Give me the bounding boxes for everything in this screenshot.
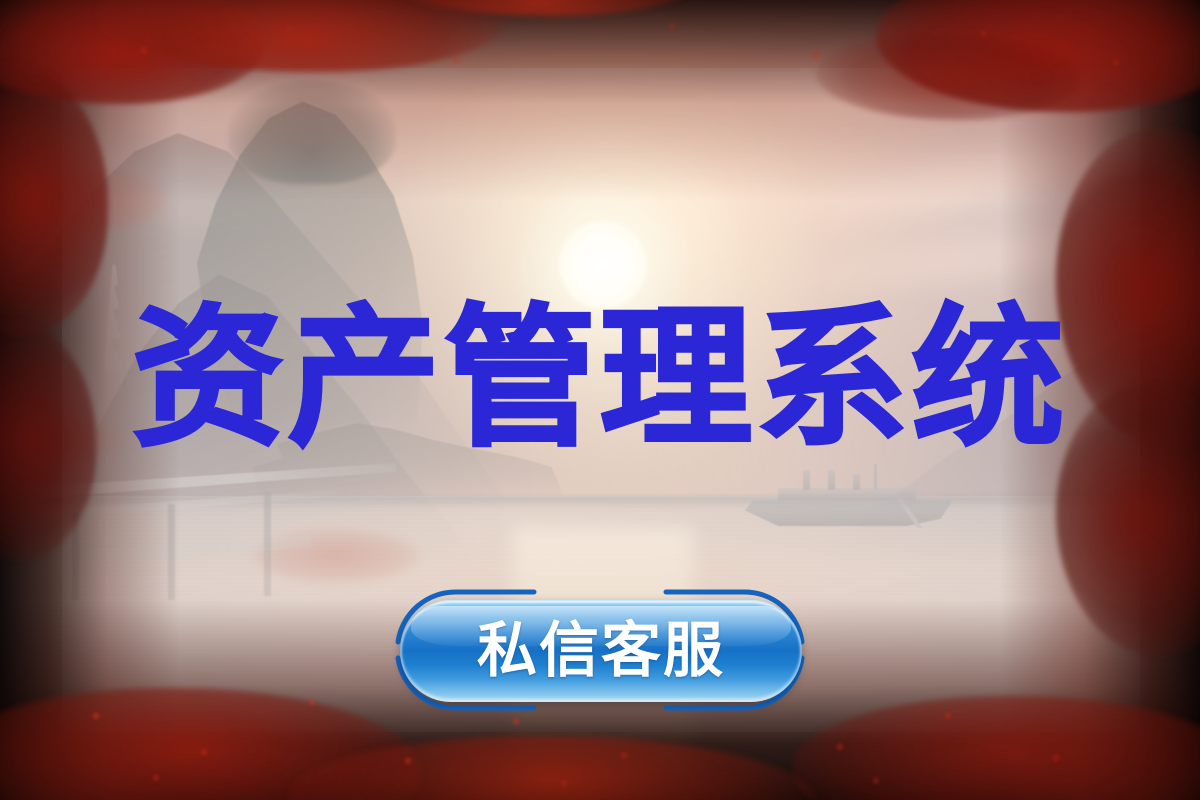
ship-silhouette [745,472,953,532]
pier-post-2 [168,504,175,600]
poster-canvas: 资产管理系统 私信客服 [0,0,1200,800]
ship-funnel-1 [803,470,810,490]
contact-cta-group: 私信客服 [382,588,818,712]
maple-foliage-2 [252,528,420,584]
pier-post-3 [264,492,271,596]
crag-tree-canopy [228,80,396,184]
ship-gangway [874,498,945,528]
pier-post-1 [72,512,79,600]
maple-foliage-1 [24,168,168,232]
contact-support-button[interactable]: 私信客服 [400,600,802,702]
ship-funnel-3 [853,474,860,490]
contact-support-button-label: 私信客服 [477,621,725,681]
page-title: 资产管理系统 [0,303,1200,455]
ship-mast [874,464,877,490]
ship-funnel-2 [828,470,835,490]
